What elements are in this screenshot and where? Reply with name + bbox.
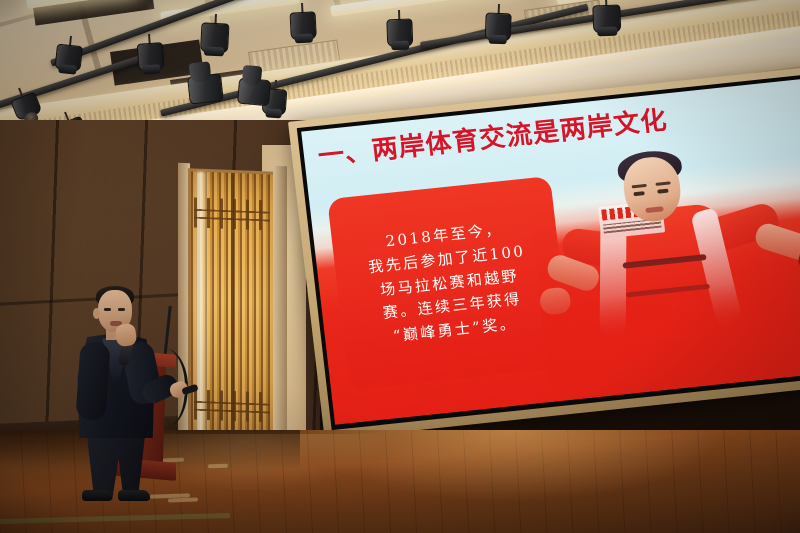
presentation-slide: 一、两岸体育交流是两岸文化 2018年至今， 我先后参加了近100 场马拉松赛和… [301, 78, 800, 425]
presenter-shoe-right [118, 490, 150, 501]
presenter-eye-right [118, 308, 125, 311]
decorative-lattice-screen [188, 168, 276, 459]
led-screen[interactable]: 一、两岸体育交流是两岸文化 2018年至今， 我先后参加了近100 场马拉松赛和… [288, 67, 800, 440]
lattice-frame-right [273, 166, 287, 463]
slide-photo-blend [518, 78, 800, 402]
presenter [66, 286, 176, 500]
lattice-center-divider [231, 173, 234, 455]
screen-frame: 一、两岸体育交流是两岸文化 2018年至今， 我先后参加了近100 场马拉松赛和… [288, 67, 800, 440]
presenter-left-arm [75, 341, 110, 421]
screen-bezel: 一、两岸体育交流是两岸文化 2018年至今， 我先后参加了近100 场马拉松赛和… [297, 74, 800, 431]
presenter-shoe-left [82, 490, 112, 501]
presenter-ear [93, 308, 100, 319]
conference-hall-photo: 一、两岸体育交流是两岸文化 2018年至今， 我先后参加了近100 场马拉松赛和… [0, 0, 800, 533]
presenter-eye-left [104, 308, 111, 311]
